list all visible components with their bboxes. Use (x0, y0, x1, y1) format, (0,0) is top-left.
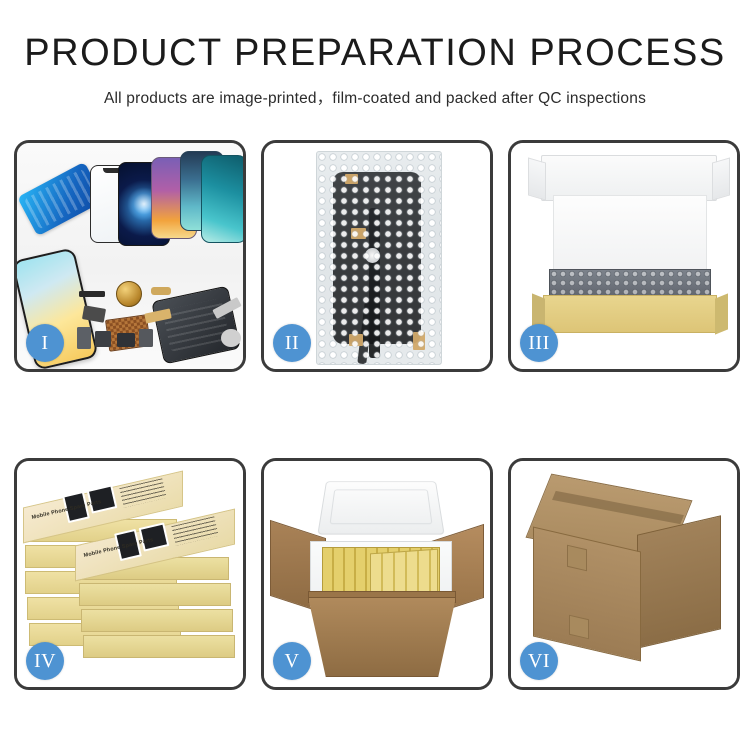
foam-cooler-lid (317, 481, 444, 534)
teal-phone-2-icon (201, 155, 243, 243)
step-panel-2: II (261, 140, 493, 372)
carton-tape-1 (567, 545, 587, 572)
page-subtitle: All products are image-printed，film-coat… (0, 86, 750, 108)
part-flex-cable-icon (151, 287, 171, 295)
step-badge-1: I (26, 324, 64, 362)
step-panel-5: V (261, 458, 493, 690)
part-bracket-icon (139, 329, 153, 347)
carton-body (308, 597, 456, 677)
step-badge-6: VI (520, 642, 558, 680)
bubble-wrap-pouch (316, 151, 442, 365)
step-badge-4: IV (26, 642, 64, 680)
phone-housing-icon (151, 286, 241, 365)
tape-strip-3 (349, 334, 363, 346)
process-steps-grid: I II (14, 140, 736, 690)
stack-box-right-2 (79, 583, 231, 606)
carton-tape-2 (569, 615, 589, 640)
product-preparation-infographic: PRODUCT PREPARATION PROCESS All products… (0, 0, 750, 750)
carton-right-face (637, 515, 721, 648)
tape-strip-1 (345, 174, 358, 184)
step-panel-3: III (508, 140, 740, 372)
carton-left-face (533, 527, 641, 662)
part-button-icon (95, 331, 111, 347)
camera-cutout (365, 248, 380, 263)
step-panel-6: VI (508, 458, 740, 690)
part-battery-icon (77, 327, 91, 349)
stack-box-right-3 (81, 609, 233, 632)
part-speaker-icon (79, 291, 105, 297)
header: PRODUCT PREPARATION PROCESS All products… (0, 0, 750, 108)
kraft-box-front (543, 295, 717, 333)
screen-flex-cable (369, 208, 380, 358)
part-module-icon (117, 333, 135, 347)
step-badge-5: V (273, 642, 311, 680)
step-badge-2: II (273, 324, 311, 362)
page-title: PRODUCT PREPARATION PROCESS (0, 34, 750, 72)
tape-strip-2 (351, 228, 366, 239)
vibration-motor-icon (116, 281, 142, 307)
step-badge-3: III (520, 324, 558, 362)
step-panel-1: I (14, 140, 246, 372)
stack-box-right-4 (83, 635, 235, 658)
foam-sheet (553, 195, 707, 273)
step-panel-4: Mobile Phone Spare Parts Mobile Phone Sp… (14, 458, 246, 690)
tape-strip-4 (413, 332, 425, 350)
part-screw-set-icon (221, 329, 241, 347)
